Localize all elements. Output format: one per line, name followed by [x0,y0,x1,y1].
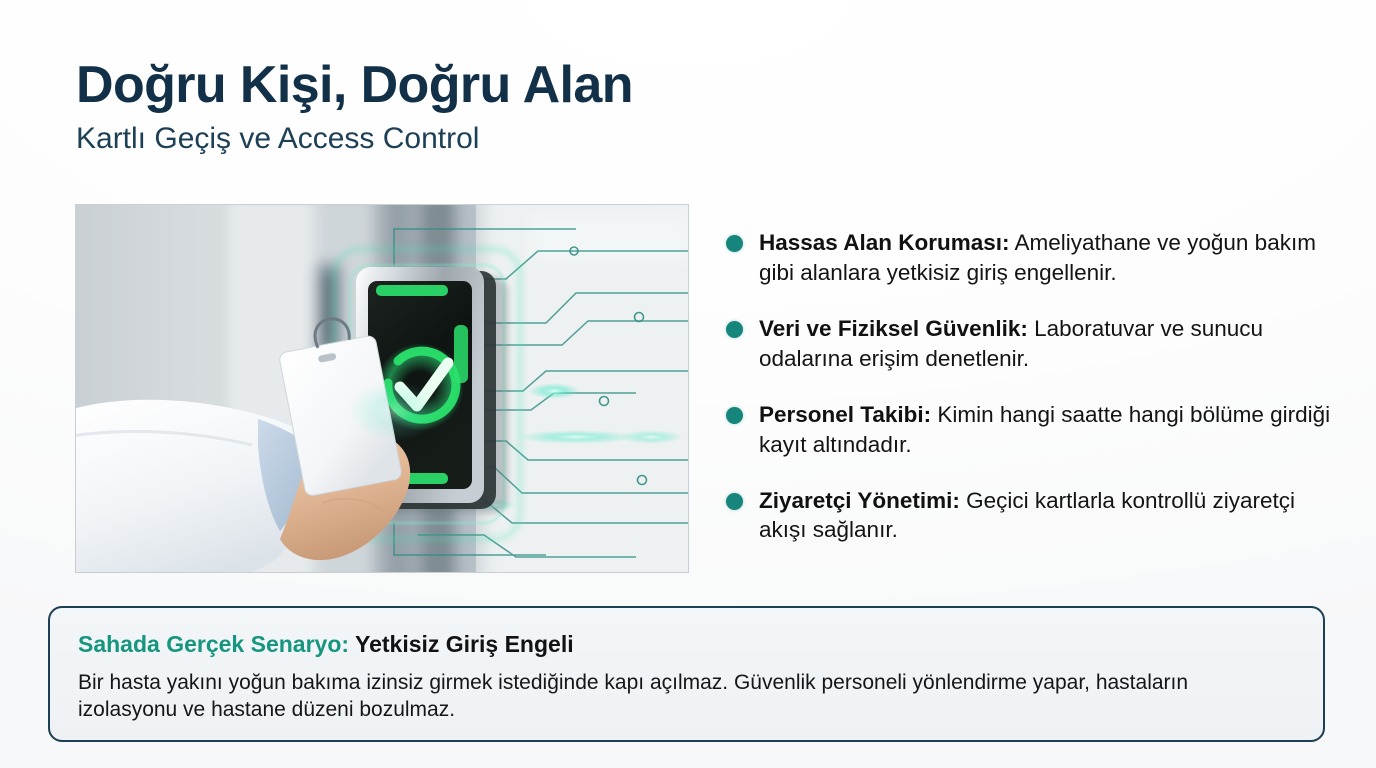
scenario-label: Sahada Gerçek Senaryo: [78,631,349,657]
scenario-body: Bir hasta yakını yoğun bakıma izinsiz gi… [78,669,1268,724]
slide-root: Doğru Kişi, Doğru Alan Kartlı Geçiş ve A… [0,0,1376,768]
bullet-text: Personel Takibi: Kimin hangi saatte hang… [759,400,1336,460]
tap-glow [348,381,440,441]
feature-bullet-list: Hassas Alan Koruması: Ameliyathane ve yo… [726,228,1336,545]
bullet-label: Personel Takibi: [759,402,931,427]
page-subtitle: Kartlı Geçiş ve Access Control [76,121,976,157]
bullet-dot-icon [726,493,743,510]
list-item: Veri ve Fiziksel Güvenlik: Laboratuvar v… [726,314,1336,374]
list-item: Hassas Alan Koruması: Ameliyathane ve yo… [726,228,1336,288]
bullet-label: Veri ve Fiziksel Güvenlik: [759,316,1028,341]
scenario-title: Yetkisiz Giriş Engeli [349,631,574,657]
bullet-dot-icon [726,407,743,424]
photo-illustration [76,205,688,572]
list-item: Personel Takibi: Kimin hangi saatte hang… [726,400,1336,460]
list-item: Ziyaretçi Yönetimi: Geçici kartlarla kon… [726,486,1336,546]
access-control-photo [76,205,688,572]
bullet-text: Hassas Alan Koruması: Ameliyathane ve yo… [759,228,1336,288]
bullet-label: Ziyaretçi Yönetimi: [759,488,960,513]
slide-header: Doğru Kişi, Doğru Alan Kartlı Geçiş ve A… [76,58,976,157]
scenario-heading: Sahada Gerçek Senaryo: Yetkisiz Giriş En… [78,630,1295,659]
scenario-callout-box: Sahada Gerçek Senaryo: Yetkisiz Giriş En… [48,606,1325,742]
page-title: Doğru Kişi, Doğru Alan [76,58,976,113]
bullet-dot-icon [726,321,743,338]
bullet-dot-icon [726,235,743,252]
bullet-text: Veri ve Fiziksel Güvenlik: Laboratuvar v… [759,314,1336,374]
bullet-label: Hassas Alan Koruması: [759,230,1010,255]
bullet-text: Ziyaretçi Yönetimi: Geçici kartlarla kon… [759,486,1336,546]
